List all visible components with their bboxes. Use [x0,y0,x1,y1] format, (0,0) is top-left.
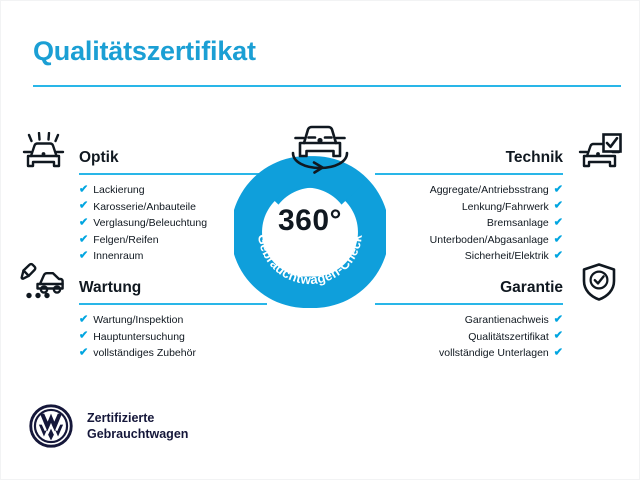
checklist-wartung: ✔Wartung/Inspektion ✔Hauptuntersuchung ✔… [17,312,267,362]
check-icon: ✔ [79,347,88,358]
check-icon: ✔ [554,201,563,212]
footer-line-1: Zertifizierte [87,410,188,426]
section-garantie: Garantie Garantienachweis✔ Qualitätszert… [375,261,625,362]
list-item-label: Garantienachweis [465,312,549,329]
list-item: ✔Hauptuntersuchung [17,329,267,346]
list-item: ✔Karosserie/Anbauteile [17,199,267,216]
check-icon: ✔ [79,217,88,228]
list-item-label: Wartung/Inspektion [93,312,183,329]
list-item: Aggregate/Antriebsstrang✔ [375,182,625,199]
check-icon: ✔ [554,347,563,358]
shield-check-icon [573,261,625,303]
section-divider [375,173,563,175]
list-item-label: vollständige Unterlagen [439,345,549,362]
list-item-label: Aggregate/Antriebsstrang [430,182,549,199]
badge-360-check: Gebrauchtwagen-Check 360° [234,156,386,308]
check-icon: ✔ [79,331,88,342]
list-item: Lenkung/Fahrwerk✔ [375,199,625,216]
section-wartung: Wartung ✔Wartung/Inspektion ✔Hauptunters… [17,261,267,362]
section-header: Garantie [375,261,625,305]
checklist-technik: Aggregate/Antriebsstrang✔ Lenkung/Fahrwe… [375,182,625,265]
list-item-label: Felgen/Reifen [93,232,158,249]
volkswagen-logo [29,404,73,448]
certificate-page: Qualitätszertifikat [0,0,640,480]
list-item: Garantienachweis✔ [375,312,625,329]
list-item: ✔Lackierung [17,182,267,199]
check-icon: ✔ [554,331,563,342]
section-title: Technik [506,149,563,167]
footer-brand: Zertifizierte Gebrauchtwagen [29,404,188,448]
section-header: Technik [375,131,625,175]
list-item-label: Karosserie/Anbauteile [93,199,196,216]
check-icon: ✔ [554,217,563,228]
section-optik: Optik ✔Lackierung ✔Karosserie/Anbauteile… [17,131,267,265]
footer-brand-text: Zertifizierte Gebrauchtwagen [87,410,188,442]
list-item: ✔Wartung/Inspektion [17,312,267,329]
list-item: Unterboden/Abgasanlage✔ [375,232,625,249]
title-divider [33,85,621,87]
checklist-garantie: Garantienachweis✔ Qualitätszertifikat✔ v… [375,312,625,362]
check-icon: ✔ [79,201,88,212]
section-header: Optik [17,131,267,175]
check-icon: ✔ [79,184,88,195]
list-item-label: Qualitätszertifikat [468,329,549,346]
list-item: ✔vollständiges Zubehör [17,345,267,362]
list-item-label: Hauptuntersuchung [93,329,185,346]
list-item: ✔Verglasung/Beleuchtung [17,215,267,232]
list-item-label: Bremsanlage [487,215,549,232]
checklist-optik: ✔Lackierung ✔Karosserie/Anbauteile ✔Verg… [17,182,267,265]
list-item-label: Verglasung/Beleuchtung [93,215,207,232]
car-checkbox-icon [573,131,625,173]
list-item-label: Unterboden/Abgasanlage [430,232,549,249]
section-header: Wartung [17,261,267,305]
section-divider [375,303,563,305]
car-pen-checklist-icon [17,261,69,303]
check-icon: ✔ [554,314,563,325]
section-title: Optik [79,149,119,167]
list-item-label: vollständiges Zubehör [93,345,196,362]
car-shine-icon [17,131,69,173]
page-title: Qualitätszertifikat [33,36,256,67]
section-title: Wartung [79,279,141,297]
footer-line-2: Gebrauchtwagen [87,426,188,442]
section-technik: Technik Aggregate/Antriebsstrang✔ Lenkun… [375,131,625,265]
list-item: Bremsanlage✔ [375,215,625,232]
badge-center-label: 360° [234,204,386,238]
list-item-label: Lenkung/Fahrwerk [462,199,549,216]
list-item: vollständige Unterlagen✔ [375,345,625,362]
list-item-label: Lackierung [93,182,144,199]
list-item: ✔Felgen/Reifen [17,232,267,249]
car-rotate-icon [284,117,356,177]
section-title: Garantie [500,279,563,297]
check-icon: ✔ [79,234,88,245]
check-icon: ✔ [79,314,88,325]
check-icon: ✔ [554,234,563,245]
list-item: Qualitätszertifikat✔ [375,329,625,346]
check-icon: ✔ [554,184,563,195]
